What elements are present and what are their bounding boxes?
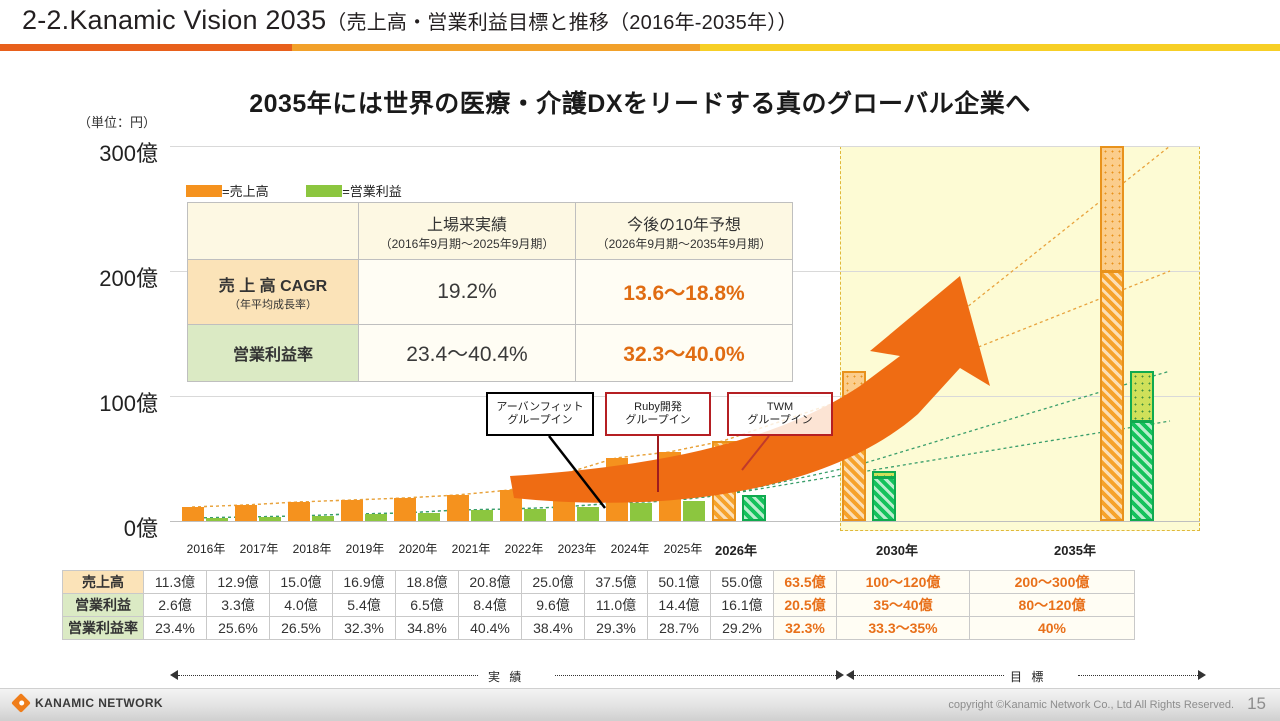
arrow-right-actual-icon [836,670,844,680]
cell-margin-2023: 29.3% [585,617,648,640]
row-label-margin: 営業利益率 [63,617,144,640]
bar-sales-2025 [659,452,681,521]
callout-urbanfit-line1: アーバンフィット [496,401,583,413]
cell-profit-2022: 9.6億 [522,594,585,617]
bar-sales-2016 [182,507,204,521]
cell-margin-2018: 26.5% [270,617,333,640]
cagr-header-actual-main: 上場来実績 [367,211,567,235]
cell-profit-2019: 5.4億 [333,594,396,617]
cell-sales-2025: 55.0億 [711,571,774,594]
cell-profit-2030: 35〜40億 [837,594,970,617]
x-label-2023: 2023年 [548,540,606,557]
bar-profit-2030-range [872,471,896,478]
data-table: 売上高 11.3億 12.9億 15.0億 16.9億 18.8億 20.8億 … [62,570,1135,640]
table-row-profit: 営業利益 2.6億 3.3億 4.0億 5.4億 6.5億 8.4億 9.6億 … [63,594,1135,617]
x-label-2016: 2016年 [177,540,235,557]
callout-urbanfit-line2: グループイン [507,414,572,426]
x-label-2017: 2017年 [230,540,288,557]
bar-profit-2017 [259,517,281,521]
legend-item-sales: =売上高 [186,184,269,199]
cell-profit-2017: 3.3億 [207,594,270,617]
bar-profit-2016 [206,518,228,521]
cagr-profit-forecast: 32.3〜40.0% [576,325,793,382]
cagr-header-actual: 上場来実績 （2016年9月期〜2025年9月期） [359,203,576,260]
bar-sales-2023 [553,474,575,521]
cell-sales-2018: 15.0億 [270,571,333,594]
callout-ruby-line1: Ruby開発 [634,401,682,413]
cagr-row-profit: 営業利益率 23.4〜40.4% 32.3〜40.0% [188,325,793,382]
range-label-actual: 実 績 [488,668,524,685]
cell-sales-2022: 25.0億 [522,571,585,594]
cell-sales-2019: 16.9億 [333,571,396,594]
cagr-header-forecast-sub: （2026年9月期〜2035年9月期） [584,235,784,252]
cell-profit-2023: 11.0億 [585,594,648,617]
row-label-profit: 営業利益 [63,594,144,617]
cell-sales-2021: 20.8億 [459,571,522,594]
range-line-target-left [854,675,1004,676]
legend-swatch-profit [306,185,342,197]
arrow-left-actual-icon [170,670,178,680]
cagr-row-label-sales-sub: （年平均成長率） [196,296,350,312]
callout-twm-text: TWM グループイン [747,401,812,426]
page-title-sub: （売上高・営業利益目標と推移（2016年-2035年）） [326,12,797,34]
bar-sales-2026 [712,441,736,521]
cell-sales-2017: 12.9億 [207,571,270,594]
table-row-sales: 売上高 11.3億 12.9億 15.0億 16.9億 18.8億 20.8億 … [63,571,1135,594]
x-label-2024: 2024年 [601,540,659,557]
chart-legend: =売上高 =営業利益 [186,181,436,200]
slide-heading: 2035年には世界の医療・介護DXをリードする真のグローバル企業へ [0,84,1280,120]
bar-sales-2030-range [842,371,866,397]
cell-margin-2017: 25.6% [207,617,270,640]
bar-profit-2025 [683,501,705,521]
x-label-2035: 2035年 [1000,540,1150,559]
cell-margin-2016: 23.4% [144,617,207,640]
callout-ruby: Ruby開発 グループイン [605,392,711,436]
x-label-2021: 2021年 [442,540,500,557]
bar-sales-2035-base [1100,271,1124,521]
cell-profit-2020: 6.5億 [396,594,459,617]
cell-sales-2030: 100〜120億 [837,571,970,594]
bar-sales-2019 [341,500,363,521]
callout-twm-line1: TWM [767,401,793,413]
bar-sales-2017 [235,505,257,521]
cell-margin-2022: 38.4% [522,617,585,640]
bar-sales-2035-range [1100,146,1124,272]
bar-sales-2020 [394,498,416,521]
y-tick-0: 0億 [48,511,158,543]
cell-sales-2026: 63.5億 [774,571,837,594]
bar-sales-2022 [500,490,522,521]
bar-profit-2024 [630,503,652,521]
x-label-2026: 2026年 [707,540,765,559]
cell-margin-2024: 28.7% [648,617,711,640]
callout-twm-line2: グループイン [747,414,812,426]
cell-sales-2020: 18.8億 [396,571,459,594]
cell-margin-2020: 34.8% [396,617,459,640]
arrow-right-target-icon [1198,670,1206,680]
bar-profit-2019 [365,514,387,521]
page-title-main: 2-2.Kanamic Vision 2035 [22,5,326,35]
page-number: 15 [1247,694,1266,714]
callout-urbanfit-text: アーバンフィット グループイン [496,401,583,426]
cell-profit-2021: 8.4億 [459,594,522,617]
cell-margin-2035: 40% [970,617,1135,640]
page-title: 2-2.Kanamic Vision 2035（売上高・営業利益目標と推移（20… [22,5,798,36]
cagr-profit-actual: 23.4〜40.4% [359,325,576,382]
y-tick-300: 300億 [48,136,158,168]
cell-profit-2035: 80〜120億 [970,594,1135,617]
bar-profit-2023 [577,507,599,521]
cell-sales-2024: 50.1億 [648,571,711,594]
cagr-row-sales: 売 上 高 CAGR （年平均成長率） 19.2% 13.6〜18.8% [188,260,793,325]
header-accent-bar-2 [292,44,700,51]
callout-ruby-line2: グループイン [625,414,690,426]
legend-swatch-sales [186,185,222,197]
logo-text: KANAMIC NETWORK [35,696,163,710]
slide-header: 2-2.Kanamic Vision 2035（売上高・営業利益目標と推移（20… [0,0,1280,44]
legend-label-profit: =営業利益 [342,184,402,199]
cell-margin-2021: 40.4% [459,617,522,640]
cell-sales-2035: 200〜300億 [970,571,1135,594]
range-label-target: 目 標 [1010,668,1046,685]
cagr-sales-forecast: 13.6〜18.8% [576,260,793,325]
range-line-target-right [1078,675,1200,676]
y-tick-200: 200億 [48,261,158,293]
x-label-2018: 2018年 [283,540,341,557]
cell-margin-2030: 33.3〜35% [837,617,970,640]
cagr-header-row: 上場来実績 （2016年9月期〜2025年9月期） 今後の10年予想 （2026… [188,203,793,260]
arrow-left-target-icon [846,670,854,680]
cell-profit-2016: 2.6億 [144,594,207,617]
range-indicator-group: 実 績 目 標 [0,668,1280,684]
cagr-header-actual-sub: （2016年9月期〜2025年9月期） [367,235,567,252]
x-label-2019: 2019年 [336,540,394,557]
bar-sales-2024 [606,458,628,521]
legend-label-sales: =売上高 [222,184,269,199]
cell-profit-2026: 20.5億 [774,594,837,617]
callout-twm: TWM グループイン [727,392,833,436]
cell-profit-2024: 14.4億 [648,594,711,617]
legend-item-profit: =営業利益 [306,184,402,199]
callout-ruby-text: Ruby開発 グループイン [625,401,690,426]
slide-root: 2-2.Kanamic Vision 2035（売上高・営業利益目標と推移（20… [0,0,1280,720]
cell-sales-2016: 11.3億 [144,571,207,594]
axis-unit-label: （単位：円） [78,112,156,131]
cagr-row-label-sales-main: 売 上 高 CAGR [219,278,327,295]
bar-profit-2020 [418,513,440,521]
cell-sales-2023: 37.5億 [585,571,648,594]
logo-diamond-icon [11,693,31,713]
cell-margin-2025: 29.2% [711,617,774,640]
bar-profit-2030-base [872,477,896,521]
y-tick-100: 100億 [48,386,158,418]
cell-profit-2025: 16.1億 [711,594,774,617]
bar-profit-2018 [312,516,334,521]
row-label-sales: 売上高 [63,571,144,594]
bar-profit-2035-range [1130,371,1154,422]
range-line-actual-left [178,675,478,676]
x-label-2025: 2025年 [654,540,712,557]
copyright-text: copyright ©Kanamic Network Co., Ltd All … [948,699,1234,711]
cagr-header-forecast-main: 今後の10年予想 [584,211,784,235]
bar-sales-2030-base [842,396,866,521]
bar-profit-2026 [742,495,766,521]
x-label-2030: 2030年 [838,540,956,559]
callout-urbanfit: アーバンフィット グループイン [486,392,594,436]
header-accent-bar-1 [0,44,292,51]
company-logo: KANAMIC NETWORK [14,696,163,710]
header-accent-bar-3 [700,44,1280,51]
bar-profit-2022 [524,509,546,521]
cagr-table: 上場来実績 （2016年9月期〜2025年9月期） 今後の10年予想 （2026… [187,202,793,382]
cagr-header-blank [188,203,359,260]
x-label-2022: 2022年 [495,540,553,557]
table-row-margin: 営業利益率 23.4% 25.6% 26.5% 32.3% 34.8% 40.4… [63,617,1135,640]
x-label-2020: 2020年 [389,540,447,557]
cell-margin-2026: 32.3% [774,617,837,640]
bar-sales-2021 [447,495,469,521]
cagr-header-forecast: 今後の10年予想 （2026年9月期〜2035年9月期） [576,203,793,260]
cagr-row-label-profit: 営業利益率 [188,325,359,382]
cagr-row-label-sales: 売 上 高 CAGR （年平均成長率） [188,260,359,325]
bar-profit-2035-base [1130,421,1154,521]
bar-profit-2021 [471,510,493,521]
cagr-sales-actual: 19.2% [359,260,576,325]
cell-margin-2019: 32.3% [333,617,396,640]
bar-sales-2018 [288,502,310,521]
range-line-actual-right [555,675,838,676]
cell-profit-2018: 4.0億 [270,594,333,617]
